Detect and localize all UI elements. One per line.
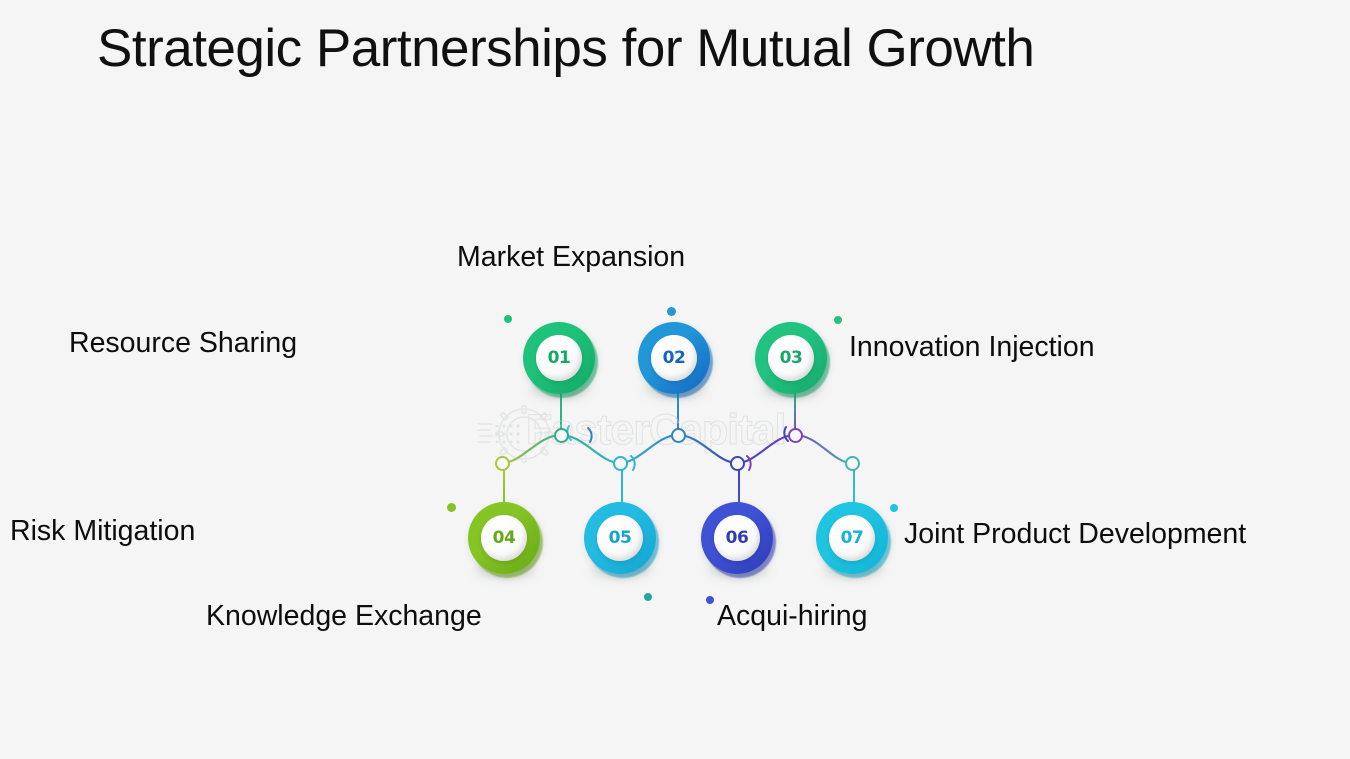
curve-knot-1 [495, 456, 510, 471]
node-inner-circle: 06 [714, 515, 760, 561]
step-node-01[interactable]: 01 [523, 322, 595, 394]
step-node-02[interactable]: 02 [638, 322, 710, 394]
node-inner-circle: 02 [651, 335, 697, 381]
step-node-03[interactable]: 03 [755, 322, 827, 394]
curve-knot-4 [671, 428, 686, 443]
curve-knot-3 [613, 456, 628, 471]
step-node-05[interactable]: 05 [584, 502, 656, 574]
curve-knot-7 [845, 456, 860, 471]
node-number-04: 04 [493, 530, 516, 547]
node-number-01: 01 [548, 350, 571, 367]
node-number-02: 02 [663, 350, 686, 367]
node-number-03: 03 [780, 350, 803, 367]
curve-knot-2 [554, 428, 569, 443]
step-node-07[interactable]: 07 [816, 502, 888, 574]
curve-knot-5 [730, 456, 745, 471]
node-number-06: 06 [726, 530, 749, 547]
step-node-04[interactable]: 04 [468, 502, 540, 574]
node-inner-circle: 05 [597, 515, 643, 561]
node-number-05: 05 [609, 530, 632, 547]
node-inner-circle: 04 [481, 515, 527, 561]
slide-canvas: Strategic Partnerships for Mutual Growth [0, 0, 1350, 759]
node-inner-circle: 01 [536, 335, 582, 381]
node-number-07: 07 [841, 530, 864, 547]
node-inner-circle: 07 [829, 515, 875, 561]
step-node-06[interactable]: 06 [701, 502, 773, 574]
node-inner-circle: 03 [768, 335, 814, 381]
curve-knot-6 [788, 428, 803, 443]
